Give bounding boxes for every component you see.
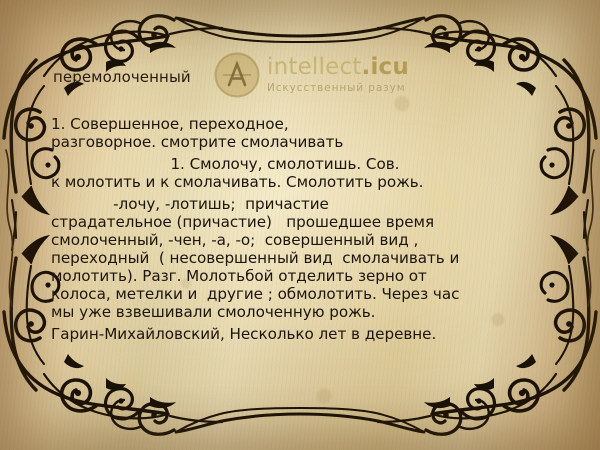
- definition-line: разговорное. смотрите смолачивать: [51, 133, 563, 151]
- definition-line: переходный ( несовершенный вид смолачива…: [51, 249, 563, 267]
- entry-headword: перемолоченный: [53, 68, 191, 86]
- definition-line: страдательное (причастие) прошедшее врем…: [51, 213, 563, 231]
- parchment-page: intellect.icu Искусственный разум перемо…: [0, 0, 600, 450]
- definition-line: 1. Смолочу, смолотишь. Сов.: [51, 155, 563, 173]
- definition-line: Гарин-Михайловский, Несколько лет в дере…: [51, 325, 563, 343]
- definition-line: мы уже взвешивали смолоченную рожь.: [51, 303, 563, 321]
- definition-line: 1. Совершенное, переходное,: [51, 115, 563, 133]
- dictionary-entry: перемолоченный 1. Совершенное, переходно…: [0, 0, 600, 450]
- definition-line: к молотить и к смолачивать. Смолотить ро…: [51, 173, 563, 191]
- definition-line: -лочу, -лотишь; причастие: [51, 195, 563, 213]
- definition-line: колоса, метелки и другие ; обмолотить. Ч…: [51, 285, 563, 303]
- definition-line: молотить). Разг. Молотьбой отделить зерн…: [51, 267, 563, 285]
- definition-line: смолоченный, -чен, -а, -о; совершенный в…: [51, 231, 563, 249]
